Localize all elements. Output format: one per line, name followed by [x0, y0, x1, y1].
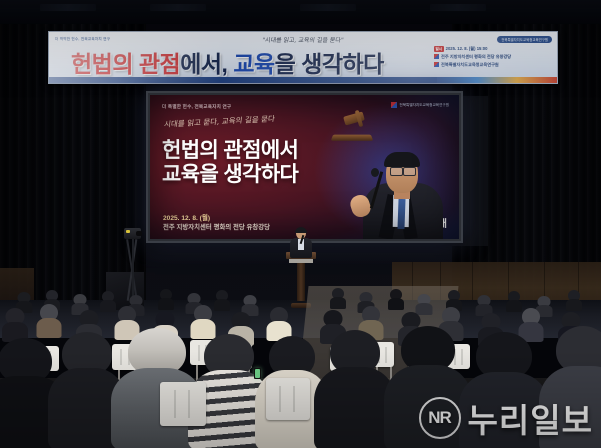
- banner-meta-row: 일시2025. 12. 8. (월) 15:00: [434, 45, 552, 53]
- banner-title-blue: 교육: [233, 51, 274, 77]
- audience-member: [56, 332, 118, 448]
- smartphone-icon: [254, 368, 261, 379]
- presenter-at-podium: [289, 228, 313, 258]
- slide-content: 더 특별한 헌수, 전북교육자치 연구 시대를 읽고 묻다, 교육의 길을 묻다…: [150, 95, 459, 239]
- audience-member: [100, 291, 115, 309]
- audience-member: [192, 305, 214, 335]
- audience-member: [268, 307, 290, 337]
- chair: [266, 378, 310, 420]
- audience-member: [330, 288, 345, 306]
- banner-title-navy-1: 에서,: [180, 51, 233, 77]
- watermark: NR 누리일보: [419, 394, 593, 442]
- audience-member: [38, 304, 60, 334]
- banner-title: 헌법의 관점에서, 교육을 생각하다: [71, 45, 384, 79]
- banner-title-red: 헌법의 관점: [71, 51, 180, 77]
- banner-meta-place: 전주 지방자치센터 평화의 전당 유창강당: [441, 53, 511, 61]
- projection-screen: 더 특별한 헌수, 전북교육자치 연구 시대를 읽고 묻다, 교육의 길을 묻다…: [146, 91, 463, 243]
- banner-title-navy-2: 을 생각하다: [275, 51, 384, 77]
- audience-member: [4, 308, 26, 338]
- chair: [160, 382, 206, 426]
- banner-org-pill: 전북특별자치도교육청교육연구원: [497, 36, 552, 43]
- banner-meta: 일시2025. 12. 8. (월) 15:00 전주 지방자치센터 평화의 전…: [434, 45, 552, 69]
- audience-member: [242, 295, 257, 313]
- banner-meta-row: 전북특별자치도교육청교육연구원: [434, 61, 552, 69]
- banner-meta-row: 전주 지방자치센터 평화의 전당 유창강당: [434, 53, 552, 61]
- org-logo-icon: [434, 62, 439, 67]
- watermark-text: 누리일보: [468, 394, 593, 442]
- banner-meta-org: 전북특별자치도교육청교육연구원: [441, 61, 499, 69]
- banner-bottom-bar: [49, 77, 557, 83]
- audience-member: [476, 295, 491, 313]
- audience-member: [214, 290, 229, 308]
- banner-subtitle: "시대를 읽고, 교육의 길을 묻다": [48, 35, 557, 44]
- audience-member: [446, 290, 461, 308]
- audience-member: [506, 291, 521, 309]
- photograph-canvas: 더 딱딱한 헌수, 전북교육자치 연구 "시대를 읽고, 교육의 길을 묻다" …: [0, 0, 601, 448]
- audience-member: [158, 289, 173, 307]
- banner-meta-datetime: 2025. 12. 8. (월) 15:00: [446, 45, 488, 53]
- banner-meta-tag: 일시: [434, 46, 444, 53]
- event-banner: 더 딱딱한 헌수, 전북교육자치 연구 "시대를 읽고, 교육의 길을 묻다" …: [48, 31, 558, 84]
- pin-icon: [434, 54, 439, 59]
- audience-member: [416, 294, 431, 312]
- audience-member: [566, 290, 581, 308]
- audience-member: [322, 330, 388, 448]
- audience-member: [388, 289, 403, 307]
- nuri-ilbo-logo-icon: NR: [419, 397, 461, 439]
